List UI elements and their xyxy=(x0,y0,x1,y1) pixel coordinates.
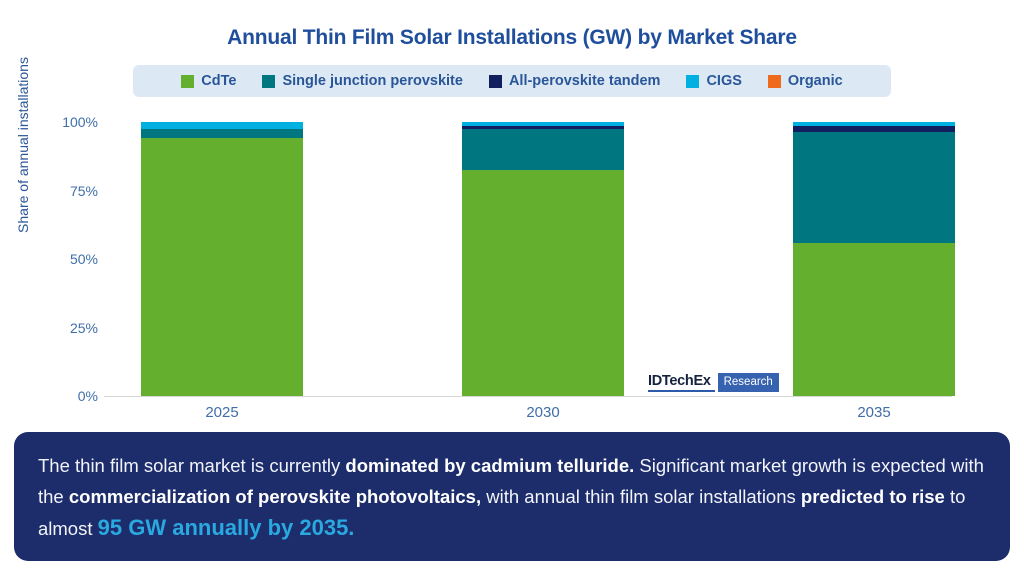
chart-legend: CdTeSingle junction perovskiteAll-perovs… xyxy=(133,65,891,97)
bar-segment-single-junction-perovskite[interactable] xyxy=(462,129,624,170)
caption-text-3: with annual thin film solar installation… xyxy=(481,486,801,507)
legend-label: CIGS xyxy=(706,73,741,89)
legend-item-single-junction-perovskite[interactable]: Single junction perovskite xyxy=(262,73,462,89)
idtechex-watermark: IDTechEx Research xyxy=(648,373,779,392)
bar-segment-cdte[interactable] xyxy=(793,243,955,396)
plot-area xyxy=(104,122,950,396)
legend-label: All-perovskite tandem xyxy=(509,73,661,89)
caption-bold-1: dominated by cadmium telluride. xyxy=(345,455,634,476)
x-axis-baseline xyxy=(104,396,952,397)
bar-stack[interactable] xyxy=(462,122,624,396)
y-axis-labels: 100%75%50%25%0% xyxy=(40,112,98,406)
bar-segment-cdte[interactable] xyxy=(462,170,624,396)
legend-swatch-icon xyxy=(768,75,781,88)
caption-box: The thin film solar market is currently … xyxy=(14,432,1010,561)
y-tick-label: 25% xyxy=(40,320,98,336)
x-tick-label-2030: 2030 xyxy=(443,404,643,421)
legend-swatch-icon xyxy=(489,75,502,88)
bar-group-2025 xyxy=(141,122,303,396)
legend-label: CdTe xyxy=(201,73,236,89)
legend-item-cigs[interactable]: CIGS xyxy=(686,73,741,89)
y-tick-label: 50% xyxy=(40,251,98,267)
legend-label: Organic xyxy=(788,73,843,89)
bar-stack[interactable] xyxy=(793,122,955,396)
bar-stack[interactable] xyxy=(141,122,303,396)
watermark-badge: Research xyxy=(718,373,779,392)
caption-bold-2: commercialization of perovskite photovol… xyxy=(69,486,481,507)
x-tick-label-2025: 2025 xyxy=(122,404,322,421)
bar-segment-single-junction-perovskite[interactable] xyxy=(141,129,303,139)
y-axis-title: Share of annual installations xyxy=(15,5,31,285)
legend-swatch-icon xyxy=(686,75,699,88)
legend-swatch-icon xyxy=(262,75,275,88)
caption-text-1: The thin film solar market is currently xyxy=(38,455,345,476)
watermark-name: IDTechEx xyxy=(648,373,715,392)
y-tick-label: 75% xyxy=(40,183,98,199)
bar-segment-cdte[interactable] xyxy=(141,138,303,396)
bar-group-2030 xyxy=(462,122,624,396)
bar-segment-single-junction-perovskite[interactable] xyxy=(793,132,955,243)
legend-item-cdte[interactable]: CdTe xyxy=(181,73,236,89)
bar-group-2035 xyxy=(793,122,955,396)
y-tick-label: 0% xyxy=(40,388,98,404)
page-title: Annual Thin Film Solar Installations (GW… xyxy=(0,26,1024,50)
y-tick-label: 100% xyxy=(40,114,98,130)
legend-swatch-icon xyxy=(181,75,194,88)
chart-page: Annual Thin Film Solar Installations (GW… xyxy=(0,0,1024,576)
legend-item-all-perovskite-tandem[interactable]: All-perovskite tandem xyxy=(489,73,661,89)
legend-label: Single junction perovskite xyxy=(282,73,462,89)
caption-bold-3: predicted to rise xyxy=(801,486,945,507)
legend-item-organic[interactable]: Organic xyxy=(768,73,843,89)
x-tick-label-2035: 2035 xyxy=(774,404,974,421)
caption-highlight: 95 GW annually by 2035. xyxy=(98,515,355,540)
